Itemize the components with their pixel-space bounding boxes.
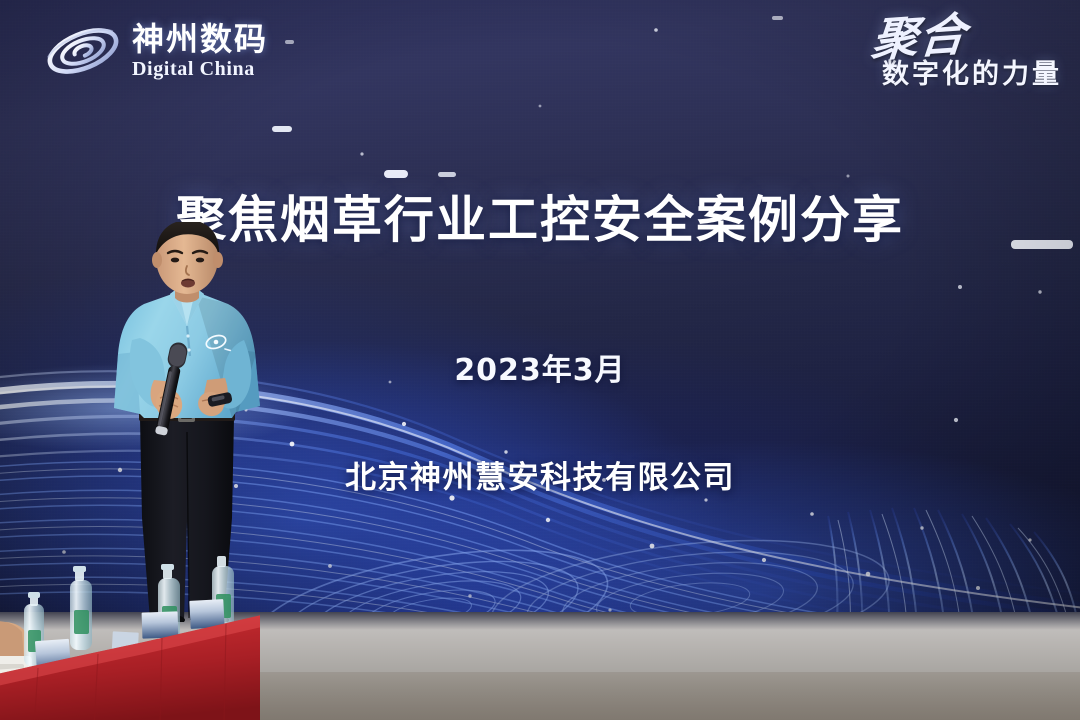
brand-name-cn: 神州数码 <box>132 23 268 55</box>
digital-china-spiral-logo <box>44 20 122 82</box>
name-card <box>189 599 224 629</box>
brand-name-en: Digital China <box>132 59 268 79</box>
digital-china-logo: 神州数码 Digital China <box>44 20 268 82</box>
water-bottle <box>70 566 92 650</box>
conference-photo: 神州数码 Digital China 聚合 数字化的力量 聚焦烟草行业工控安全案… <box>0 0 1080 720</box>
judges-table <box>0 556 260 720</box>
slogan-calligraphy: 聚合 <box>870 13 969 62</box>
name-card <box>142 611 179 638</box>
event-slogan: 聚合 数字化的力量 <box>872 16 1062 91</box>
